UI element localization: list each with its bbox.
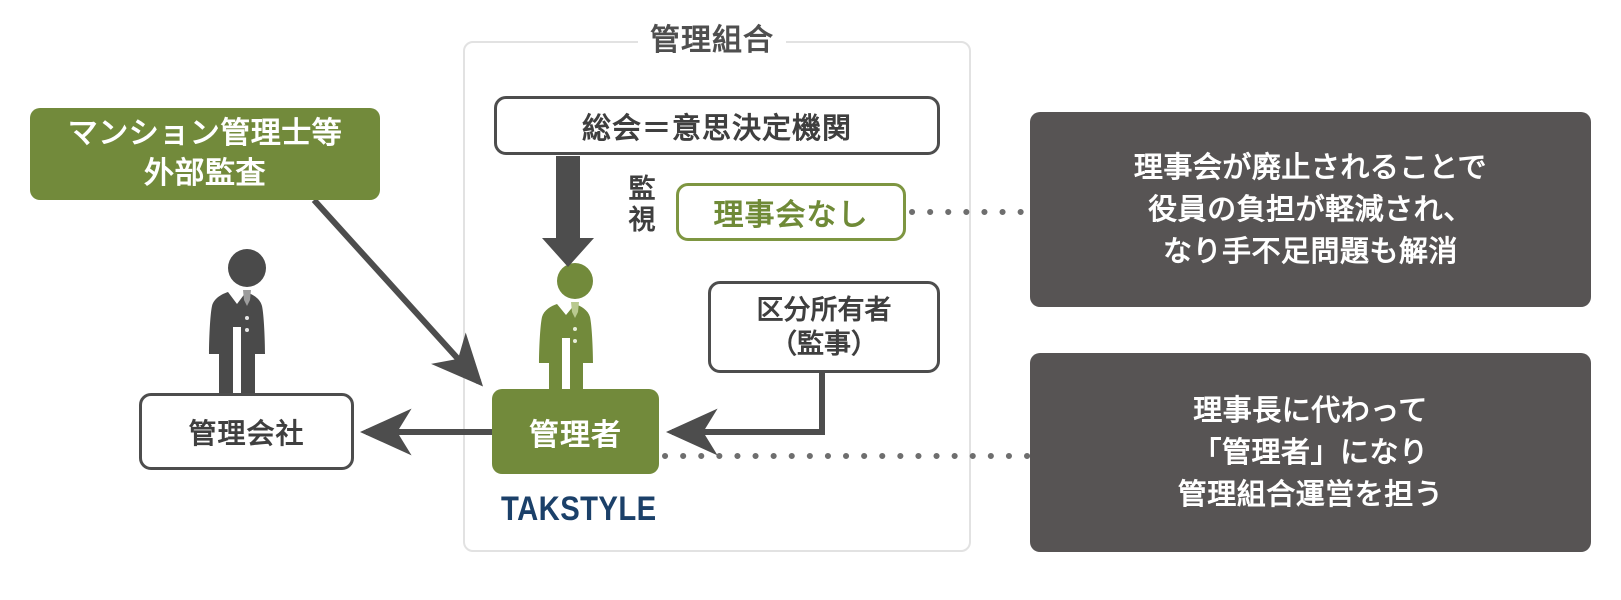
owner-auditor-line1: 区分所有者 <box>757 293 892 327</box>
callout2-line1: 理事長に代わって <box>1193 390 1428 432</box>
no-board-of-directors-box[interactable]: 理事会なし <box>676 183 906 241</box>
owner-auditor-line2: （監事） <box>757 327 892 361</box>
external-audit-line1: マンション管理士等 <box>68 114 343 154</box>
owner-auditor-box[interactable]: 区分所有者 （監事） <box>708 281 940 373</box>
supervision-label: 監 視 <box>625 174 659 236</box>
supervision-char-1: 監 <box>625 174 659 205</box>
no-board-label: 理事会なし <box>714 190 869 234</box>
diagram-canvas: 管理組合 <box>0 0 1621 600</box>
callout2-line2: 「管理者」になり <box>1192 432 1428 474</box>
manager-label: 管理者 <box>529 410 622 454</box>
takstyle-brand-label: TAKSTYLE <box>501 490 657 529</box>
callout1-line1: 理事会が廃止されることで <box>1134 147 1487 189</box>
supervision-char-2: 視 <box>625 205 659 236</box>
management-company-label: 管理会社 <box>188 412 304 452</box>
general-meeting-box[interactable]: 総会＝意思決定機関 <box>494 96 940 155</box>
external-audit-to-manager-arrow <box>314 200 479 382</box>
callout-no-board-benefit: 理事会が廃止されることで 役員の負担が軽減され、 なり手不足問題も解消 <box>1030 112 1591 307</box>
callout-manager-role: 理事長に代わって 「管理者」になり 管理組合運営を担う <box>1030 353 1591 552</box>
person-suit-gray-icon <box>209 249 266 396</box>
management-company-box[interactable]: 管理会社 <box>139 393 354 470</box>
callout2-line3: 管理組合運営を担う <box>1178 474 1444 516</box>
external-audit-box[interactable]: マンション管理士等 外部監査 <box>30 108 380 200</box>
callout1-line3: なり手不足問題も解消 <box>1163 231 1458 273</box>
general-meeting-label: 総会＝意思決定機関 <box>582 105 852 147</box>
external-audit-line2: 外部監査 <box>68 154 343 194</box>
management-association-title: 管理組合 <box>638 22 786 60</box>
manager-box[interactable]: 管理者 <box>492 389 659 474</box>
callout1-line2: 役員の負担が軽減され、 <box>1148 189 1473 231</box>
